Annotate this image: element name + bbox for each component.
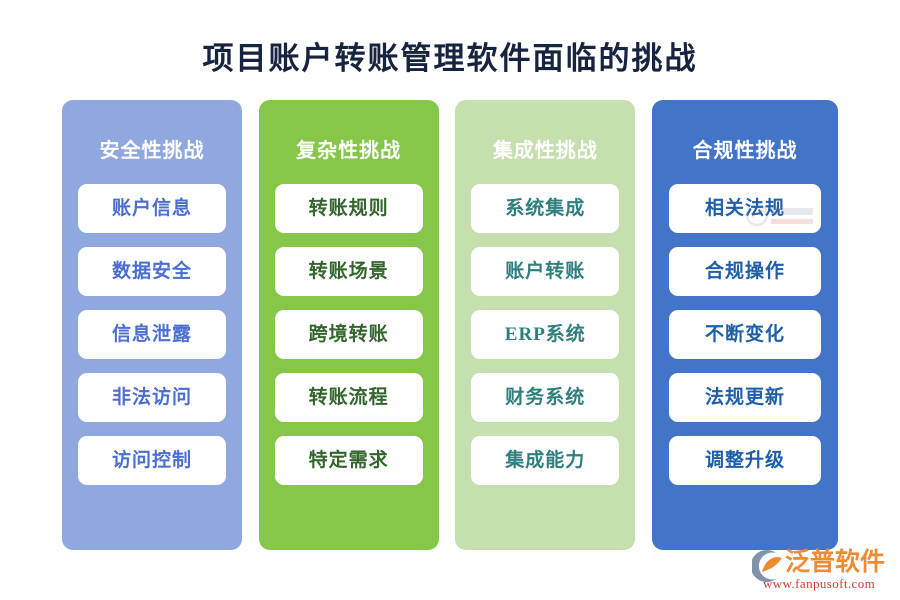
- logo-company-name: 泛普软件: [785, 548, 885, 576]
- card-item[interactable]: 调整升级: [669, 436, 821, 485]
- column-integration-challenge[interactable]: 集成性挑战 系统集成 账户转账 ERP系统 财务系统 集成能力: [455, 100, 635, 550]
- card-item[interactable]: 系统集成: [471, 184, 619, 233]
- card-item[interactable]: 财务系统: [471, 373, 619, 422]
- column-header: 合规性挑战: [692, 138, 797, 164]
- column-card-list: 相关法规 合规操作 不断变化 法规更新 调整升级: [652, 184, 838, 485]
- card-item[interactable]: 相关法规: [669, 184, 821, 233]
- column-card-list: 转账规则 转账场景 跨境转账 转账流程 特定需求: [259, 184, 439, 485]
- card-item[interactable]: 账户信息: [78, 184, 226, 233]
- card-item[interactable]: ERP系统: [471, 310, 619, 359]
- card-item[interactable]: 账户转账: [471, 247, 619, 296]
- logo-url: www.fanpusoft.com: [763, 576, 875, 591]
- card-item[interactable]: 跨境转账: [275, 310, 423, 359]
- card-item[interactable]: 合规操作: [669, 247, 821, 296]
- card-item[interactable]: 法规更新: [669, 373, 821, 422]
- slide-canvas: 项目账户转账管理软件面临的挑战 安全性挑战 账户信息 数据安全 信息泄露 非法访…: [0, 0, 900, 600]
- column-compliance-challenge[interactable]: 合规性挑战 相关法规 合规操作 不断变化 法规更新 调整升级: [652, 100, 838, 550]
- card-item[interactable]: 特定需求: [275, 436, 423, 485]
- card-item[interactable]: 转账场景: [275, 247, 423, 296]
- column-complexity-challenge[interactable]: 复杂性挑战 转账规则 转账场景 跨境转账 转账流程 特定需求: [259, 100, 439, 550]
- card-item[interactable]: 集成能力: [471, 436, 619, 485]
- column-card-list: 账户信息 数据安全 信息泄露 非法访问 访问控制: [62, 184, 242, 485]
- card-item[interactable]: 信息泄露: [78, 310, 226, 359]
- column-header: 集成性挑战: [493, 138, 598, 164]
- column-security-challenge[interactable]: 安全性挑战 账户信息 数据安全 信息泄露 非法访问 访问控制: [62, 100, 242, 550]
- column-card-list: 系统集成 账户转账 ERP系统 财务系统 集成能力: [455, 184, 635, 485]
- card-item[interactable]: 转账规则: [275, 184, 423, 233]
- card-label: 相关法规: [705, 197, 785, 221]
- challenge-columns: 安全性挑战 账户信息 数据安全 信息泄露 非法访问 访问控制 复杂性挑战 转账规…: [62, 100, 838, 550]
- card-item[interactable]: 不断变化: [669, 310, 821, 359]
- card-item[interactable]: 数据安全: [78, 247, 226, 296]
- card-item[interactable]: 访问控制: [78, 436, 226, 485]
- card-item[interactable]: 非法访问: [78, 373, 226, 422]
- column-header: 安全性挑战: [100, 138, 205, 164]
- card-item[interactable]: 转账流程: [275, 373, 423, 422]
- column-header: 复杂性挑战: [296, 138, 401, 164]
- page-title: 项目账户转账管理软件面临的挑战: [0, 38, 900, 80]
- brand-logo[interactable]: 泛普软件 www.fanpusoft.com: [752, 548, 894, 594]
